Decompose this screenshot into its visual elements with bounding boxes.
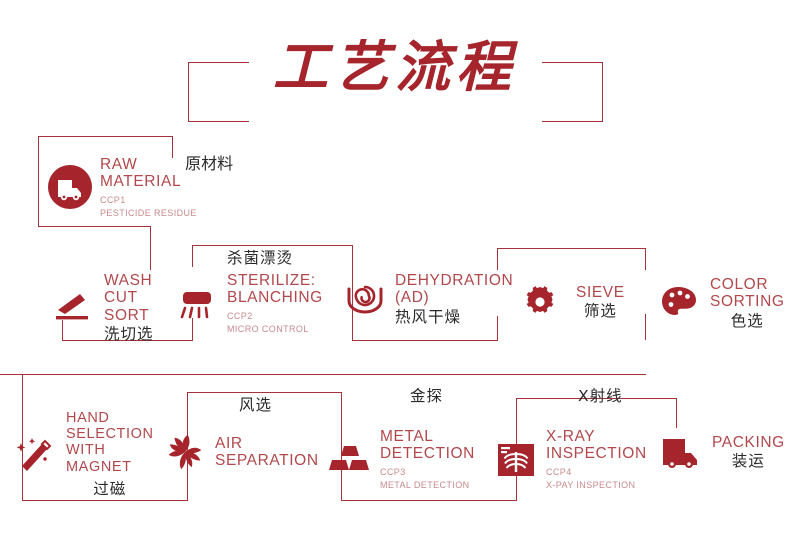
connector-xray-right: [676, 398, 678, 428]
step-label-zh: 洗切选: [104, 326, 154, 343]
step-label-en: DEHYDRATION (AD): [395, 272, 513, 307]
step-label-zh: X射线: [578, 388, 623, 405]
ccp-desc: X-PAY INSPECTION: [546, 479, 647, 492]
step-label-zh: 筛选: [576, 303, 625, 320]
step-label-en: COLOR SORTING: [710, 276, 785, 311]
step-label-en: X-RAY INSPECTION: [546, 428, 647, 463]
step-sterilize-blanching[interactable]: 杀菌漂烫 STERILIZE: BLANCHING CCP2 MICRO CON…: [175, 272, 323, 336]
metal-bars-icon: [328, 438, 372, 482]
step-label-zh: 金探: [410, 388, 443, 405]
ccp-code: CCP1: [100, 194, 233, 207]
spiral-dryer-icon: [343, 277, 387, 321]
step-label-zh: 色选: [710, 313, 785, 330]
connector-colorsort-bottom: [0, 374, 646, 376]
step-label-en: SIEVE: [576, 284, 625, 301]
connector-air-top: [187, 392, 341, 394]
step-color-sorting[interactable]: COLOR SORTING 色选: [658, 276, 785, 330]
step-x-ray-inspection[interactable]: X射线 X-RAY INSPECTION CCP4 X-PAY INSPECTI…: [494, 428, 647, 492]
page-title: 工艺流程: [0, 28, 790, 106]
blanching-steam-icon: [175, 282, 219, 326]
step-label-zh: 装运: [712, 453, 785, 470]
ccp-desc: MICRO CONTROL: [227, 323, 323, 336]
knife-cutting-board-icon: [52, 286, 96, 330]
step-wash-cut-sort[interactable]: WASH CUT SORT 洗切选: [52, 272, 154, 343]
step-label-en: AIR SEPARATION: [215, 435, 319, 470]
step-label-en: RAW MATERIAL: [100, 156, 181, 191]
truck-icon: [660, 430, 704, 474]
ccp-code: CCP2: [227, 310, 323, 323]
process-flow-diagram: 工艺流程: [0, 0, 790, 551]
palette-icon: [658, 281, 702, 325]
step-raw-material[interactable]: RAW MATERIAL 原材料 CCP1 PESTICIDE RESIDUE: [48, 155, 233, 220]
pinwheel-fan-icon: [163, 430, 207, 474]
connector-colorsort-left: [645, 314, 647, 340]
step-air-separation[interactable]: 风选 AIR SEPARATION: [163, 430, 319, 474]
step-label-zh: 风选: [239, 397, 272, 414]
step-label-en: PACKING: [712, 434, 785, 451]
step-metal-detection[interactable]: 金探 METAL DETECTION CCP3 METAL DETECTION: [328, 428, 475, 492]
connector-raw-material-left: [38, 136, 40, 226]
title-area: 工艺流程: [0, 18, 790, 118]
step-label-en: WASH CUT SORT: [104, 272, 154, 324]
ccp-desc: METAL DETECTION: [380, 479, 475, 492]
step-label-en: HAND SELECTION WITH MAGNET: [66, 410, 154, 475]
connector-metal-bottom: [341, 500, 516, 502]
connector-hand-bottom: [22, 500, 187, 502]
step-label-zh: 杀菌漂烫: [227, 250, 293, 267]
ccp-desc: PESTICIDE RESIDUE: [100, 207, 233, 220]
step-label-en: METAL DETECTION: [380, 428, 475, 463]
connector-sterilize-top: [192, 245, 352, 247]
connector-raw-to-wash: [150, 226, 152, 270]
step-sieve[interactable]: SIEVE 筛选: [518, 280, 625, 324]
connector-dehydration-bottom: [352, 340, 497, 342]
step-label-zh: 热风干燥: [395, 309, 513, 326]
xray-film-icon: [494, 438, 538, 482]
step-label-en: STERILIZE: BLANCHING: [227, 272, 323, 307]
connector-sieve-top-left: [497, 248, 499, 270]
connector-raw-material-bottom: [38, 226, 150, 228]
ccp-code: CCP3: [380, 466, 475, 479]
step-packing[interactable]: PACKING 装运: [660, 430, 785, 474]
step-dehydration[interactable]: DEHYDRATION (AD) 热风干燥: [343, 272, 513, 326]
step-hand-selection-magnet[interactable]: HAND SELECTION WITH MAGNET 过磁: [14, 410, 154, 498]
connector-sieve-top-right: [645, 248, 647, 270]
magic-wand-magnet-icon: [14, 432, 58, 476]
step-label-zh: 过磁: [66, 481, 154, 498]
step-label-zh: 原材料: [185, 155, 233, 173]
connector-raw-material-top: [38, 136, 173, 138]
connector-sterilize-top-left: [192, 245, 194, 267]
connector-sieve-top: [497, 248, 645, 250]
ccp-code: CCP4: [546, 466, 647, 479]
gear-icon: [518, 280, 562, 324]
truck-circle-icon: [48, 165, 92, 209]
